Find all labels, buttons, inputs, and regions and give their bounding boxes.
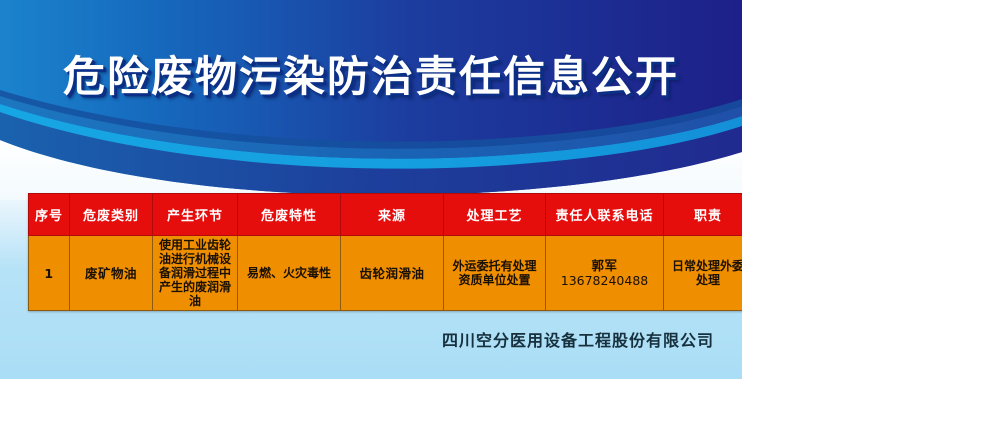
column-header-duty: 职责: [664, 194, 743, 236]
column-header-index: 序号: [29, 194, 70, 236]
cell-category: 废矿物油: [70, 236, 153, 311]
responsible-person-name: 郭军: [591, 258, 617, 273]
cell-source: 齿轮润滑油: [341, 236, 444, 311]
hazardous-waste-table: 序号 危废类别 产生环节 危废特性 来源 处理工艺 责任人联系电话 职责 1 废…: [28, 193, 742, 311]
table-header-row: 序号 危废类别 产生环节 危废特性 来源 处理工艺 责任人联系电话 职责: [29, 194, 743, 236]
table-row: 1 废矿物油 使用工业齿轮油进行机械设备润滑过程中产生的废润滑油 易燃、火灾毒性…: [29, 236, 743, 311]
poster-root: 危险废物污染防治责任信息公开 序号 危废类别 产生环节 危废特性 来源 处理工艺…: [0, 0, 742, 379]
company-name: 四川空分医用设备工程股份有限公司: [0, 330, 714, 352]
table-body: 1 废矿物油 使用工业齿轮油进行机械设备润滑过程中产生的废润滑油 易燃、火灾毒性…: [29, 236, 743, 311]
table-header: 序号 危废类别 产生环节 危废特性 来源 处理工艺 责任人联系电话 职责: [29, 194, 743, 236]
page-title: 危险废物污染防治责任信息公开: [0, 50, 742, 104]
column-header-hazard-property: 危废特性: [238, 194, 341, 236]
cell-responsible-contact: 郭军 13678240488: [546, 236, 664, 311]
column-header-treatment-process: 处理工艺: [444, 194, 546, 236]
cell-treatment-process: 外运委托有处理资质单位处置: [444, 236, 546, 311]
cell-index: 1: [29, 236, 70, 311]
cell-hazard-property: 易燃、火灾毒性: [238, 236, 341, 311]
column-header-generation-stage: 产生环节: [153, 194, 238, 236]
cell-generation-stage: 使用工业齿轮油进行机械设备润滑过程中产生的废润滑油: [153, 236, 238, 311]
column-header-category: 危废类别: [70, 194, 153, 236]
cell-duty: 日常处理外委处理: [664, 236, 743, 311]
column-header-responsible-phone: 责任人联系电话: [546, 194, 664, 236]
responsible-person-phone: 13678240488: [548, 273, 661, 288]
column-header-source: 来源: [341, 194, 444, 236]
